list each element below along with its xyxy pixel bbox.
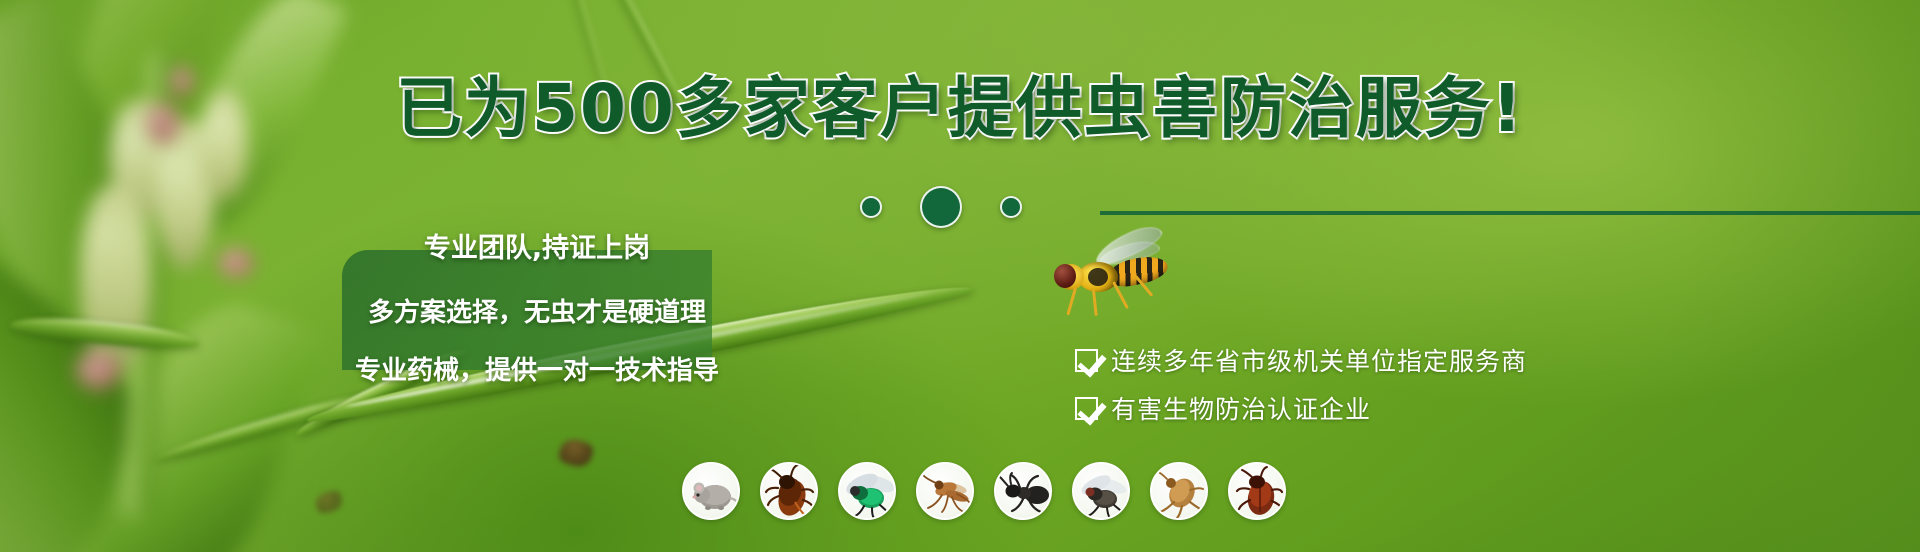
checklist-item: 连续多年省市级机关单位指定服务商 [1075, 336, 1527, 384]
checkbox-checked-icon [1075, 397, 1098, 420]
housefly-icon[interactable] [1072, 462, 1130, 520]
selling-points-panel: 专业团队,持证上岗 多方案选择，无虫才是硬道理 专业药械，提供一对一技术指导 [342, 250, 712, 370]
checklist-item: 有害生物防治认证企业 [1075, 384, 1527, 432]
checklist-item-label: 连续多年省市级机关单位指定服务商 [1111, 342, 1527, 378]
selling-point-line-3: 专业药械，提供一对一技术指导 [341, 342, 733, 400]
decor-dot-small-right-icon [1000, 196, 1022, 218]
mouse-icon[interactable] [682, 462, 740, 520]
mosquito-icon[interactable] [916, 462, 974, 520]
decorative-horizontal-rule [1100, 211, 1920, 215]
selling-point-line-1: 专业团队,持证上岗 [341, 214, 733, 284]
bedbug-icon[interactable] [1228, 462, 1286, 520]
flea-icon[interactable] [1150, 462, 1208, 520]
checkbox-checked-icon [1075, 349, 1098, 372]
credentials-checklist: 连续多年省市级机关单位指定服务商 有害生物防治认证企业 [1075, 336, 1527, 432]
pest-control-hero-banner: 已为500多家客户提供虫害防治服务! 专业团队,持证上岗 多方案选择，无虫才是硬… [0, 0, 1920, 552]
banner-headline: 已为500多家客户提供虫害防治服务! [0, 76, 1920, 142]
cockroach-icon[interactable] [760, 462, 818, 520]
selling-point-line-2: 多方案选择，无虫才是硬道理 [341, 284, 733, 342]
decor-dot-small-left-icon [860, 196, 882, 218]
ant-icon[interactable] [994, 462, 1052, 520]
hoverfly-illustration [1040, 248, 1170, 318]
pest-type-icon-strip [682, 462, 1286, 520]
bluebottle-fly-icon[interactable] [838, 462, 896, 520]
checklist-item-label: 有害生物防治认证企业 [1111, 390, 1371, 426]
decor-dot-large-icon [920, 186, 962, 228]
